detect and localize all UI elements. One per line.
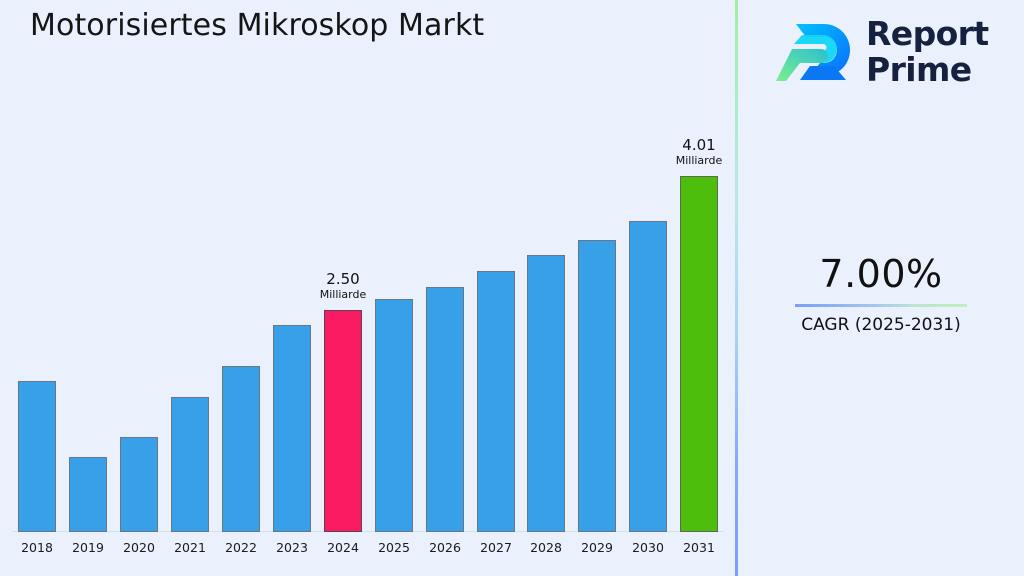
right-panel: Report Prime 7.00% CAGR (2025-2031) bbox=[738, 0, 1024, 576]
bar-2030 bbox=[629, 221, 667, 532]
bar-2031 bbox=[680, 176, 718, 532]
brand-name-line1: Report bbox=[866, 16, 989, 52]
report-prime-logo-icon bbox=[774, 16, 858, 90]
cagr-divider-rule bbox=[795, 304, 967, 307]
x-tick-2031: 2031 bbox=[674, 540, 724, 555]
brand-name: Report Prime bbox=[866, 16, 989, 88]
bar-2018 bbox=[18, 381, 56, 532]
x-tick-2023: 2023 bbox=[267, 540, 317, 555]
x-tick-2025: 2025 bbox=[369, 540, 419, 555]
bar-2020 bbox=[120, 437, 158, 532]
bar-2022 bbox=[222, 366, 260, 532]
brand-logo: Report Prime bbox=[774, 12, 1010, 94]
value-label-2024: 2.50Milliarde bbox=[293, 270, 393, 301]
bar-2028 bbox=[527, 255, 565, 532]
bar-2027 bbox=[477, 271, 515, 532]
x-tick-2026: 2026 bbox=[420, 540, 470, 555]
slide-root: Motorisiertes Mikroskop Markt 2018201920… bbox=[0, 0, 1024, 576]
bar-2024 bbox=[324, 310, 362, 532]
value-label-2031: 4.01Milliarde bbox=[649, 136, 749, 167]
x-tick-2024: 2024 bbox=[318, 540, 368, 555]
value-number-2024: 2.50 bbox=[293, 270, 393, 288]
x-tick-2022: 2022 bbox=[216, 540, 266, 555]
chart-baseline-axis bbox=[12, 531, 724, 532]
x-tick-2027: 2027 bbox=[471, 540, 521, 555]
bar-2021 bbox=[171, 397, 209, 532]
x-tick-2018: 2018 bbox=[12, 540, 62, 555]
brand-name-line2: Prime bbox=[866, 52, 989, 88]
x-tick-2021: 2021 bbox=[165, 540, 215, 555]
x-tick-2030: 2030 bbox=[623, 540, 673, 555]
x-tick-2019: 2019 bbox=[63, 540, 113, 555]
bar-2025 bbox=[375, 299, 413, 532]
bar-2019 bbox=[69, 457, 107, 532]
bar-chart: 2018201920202021202220232024202520262027… bbox=[0, 0, 735, 576]
cagr-block: 7.00% CAGR (2025-2031) bbox=[738, 250, 1024, 337]
x-tick-2028: 2028 bbox=[521, 540, 571, 555]
x-tick-2020: 2020 bbox=[114, 540, 164, 555]
bar-2026 bbox=[426, 287, 464, 532]
bar-2023 bbox=[273, 325, 311, 532]
cagr-value: 7.00% bbox=[738, 250, 1024, 298]
value-unit-2024: Milliarde bbox=[293, 288, 393, 301]
cagr-label: CAGR (2025-2031) bbox=[738, 313, 1024, 337]
bar-2029 bbox=[578, 240, 616, 532]
x-tick-2029: 2029 bbox=[572, 540, 622, 555]
value-unit-2031: Milliarde bbox=[649, 154, 749, 167]
value-number-2031: 4.01 bbox=[649, 136, 749, 154]
